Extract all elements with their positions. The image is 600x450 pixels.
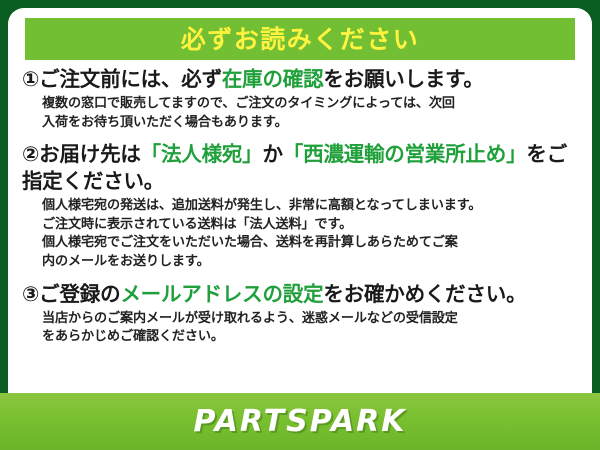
notice-item-3: ③ご登録のメールアドレスの設定をお確かめください。 当店からのご案内メールが受け… <box>22 281 582 347</box>
notice-item-3-subline-1: 当店からのご案内メールが受け取れるよう、迷惑メールなどの受信設定 <box>42 310 582 329</box>
notice-item-1-heading: ①ご注文前には、必ず在庫の確認をお願いします。 <box>22 66 582 93</box>
notice-item-1-number: ① <box>22 67 39 91</box>
notice-item-2-heading: ②お届け先は「法人様宛」か「西濃運輸の営業所止め」をご指定ください。 <box>22 141 582 195</box>
notice-item-2-heading-highlight-2: 「西濃運輸の営業所止め」 <box>283 142 527 166</box>
brand-logo: PARTSPARK <box>193 404 406 439</box>
notice-item-3-heading-highlight: メールアドレスの設定 <box>120 282 323 306</box>
notice-item-2-subline-4: 内のメールをお送りします。 <box>42 253 582 272</box>
notice-item-2-heading-part-1: お届け先は <box>39 142 141 166</box>
notice-card: 必ずお読みください ①ご注文前には、必ず在庫の確認をお願いします。 複数の窓口で… <box>0 0 600 450</box>
notice-item-2-heading-highlight-1: 「法人様宛」 <box>141 142 263 166</box>
notice-item-2-number: ② <box>22 142 39 166</box>
white-panel: 必ずお読みください ①ご注文前には、必ず在庫の確認をお願いします。 複数の窓口で… <box>8 8 592 436</box>
notice-item-2: ②お届け先は「法人様宛」か「西濃運輸の営業所止め」をご指定ください。 個人様宅宛… <box>22 141 582 271</box>
notice-item-1-subtext: 複数の窓口で販売してますので、ご注文のタイミングによっては、次回 入荷をお待ち頂… <box>22 95 582 132</box>
notice-item-3-heading-part-3: をお確かめください。 <box>323 282 526 306</box>
header-band: 必ずお読みください <box>25 18 575 60</box>
page-title: 必ずお読みください <box>181 27 420 52</box>
notice-item-2-subline-2: ご注文時に表示されている送料は「法人送料」です。 <box>42 216 582 235</box>
notice-item-2-subline-1: 個人様宅宛の発送は、追加送料が発生し、非常に高額となってしまいます。 <box>42 197 582 216</box>
notice-item-1: ①ご注文前には、必ず在庫の確認をお願いします。 複数の窓口で販売してますので、ご… <box>22 66 582 132</box>
notice-item-3-subline-2: をあらかじめご確認ください。 <box>42 328 582 347</box>
notice-item-1-heading-part-3: をお願いします。 <box>323 67 483 91</box>
notice-body: ①ご注文前には、必ず在庫の確認をお願いします。 複数の窓口で販売してますので、ご… <box>8 64 592 390</box>
notice-item-3-number: ③ <box>22 282 39 306</box>
notice-item-2-heading-part-3: か <box>262 142 282 166</box>
notice-item-1-heading-highlight: 在庫の確認 <box>222 67 324 91</box>
notice-item-1-subline-1: 複数の窓口で販売してますので、ご注文のタイミングによっては、次回 <box>42 95 582 114</box>
notice-item-3-heading-part-1: ご登録の <box>39 282 120 306</box>
notice-item-1-heading-part-1: ご注文前には、必ず <box>39 67 222 91</box>
notice-item-1-subline-2: 入荷をお待ち頂いただく場合もあります。 <box>42 114 582 133</box>
footer-band: PARTSPARK <box>0 393 600 450</box>
notice-item-3-heading: ③ご登録のメールアドレスの設定をお確かめください。 <box>22 281 582 308</box>
notice-item-2-subtext: 個人様宅宛の発送は、追加送料が発生し、非常に高額となってしまいます。 ご注文時に… <box>22 197 582 271</box>
notice-item-2-subline-3: 個人様宅宛でご注文をいただいた場合、送料を再計算しあらためてご案 <box>42 234 582 253</box>
notice-item-3-subtext: 当店からのご案内メールが受け取れるよう、迷惑メールなどの受信設定 をあらかじめご… <box>22 310 582 347</box>
